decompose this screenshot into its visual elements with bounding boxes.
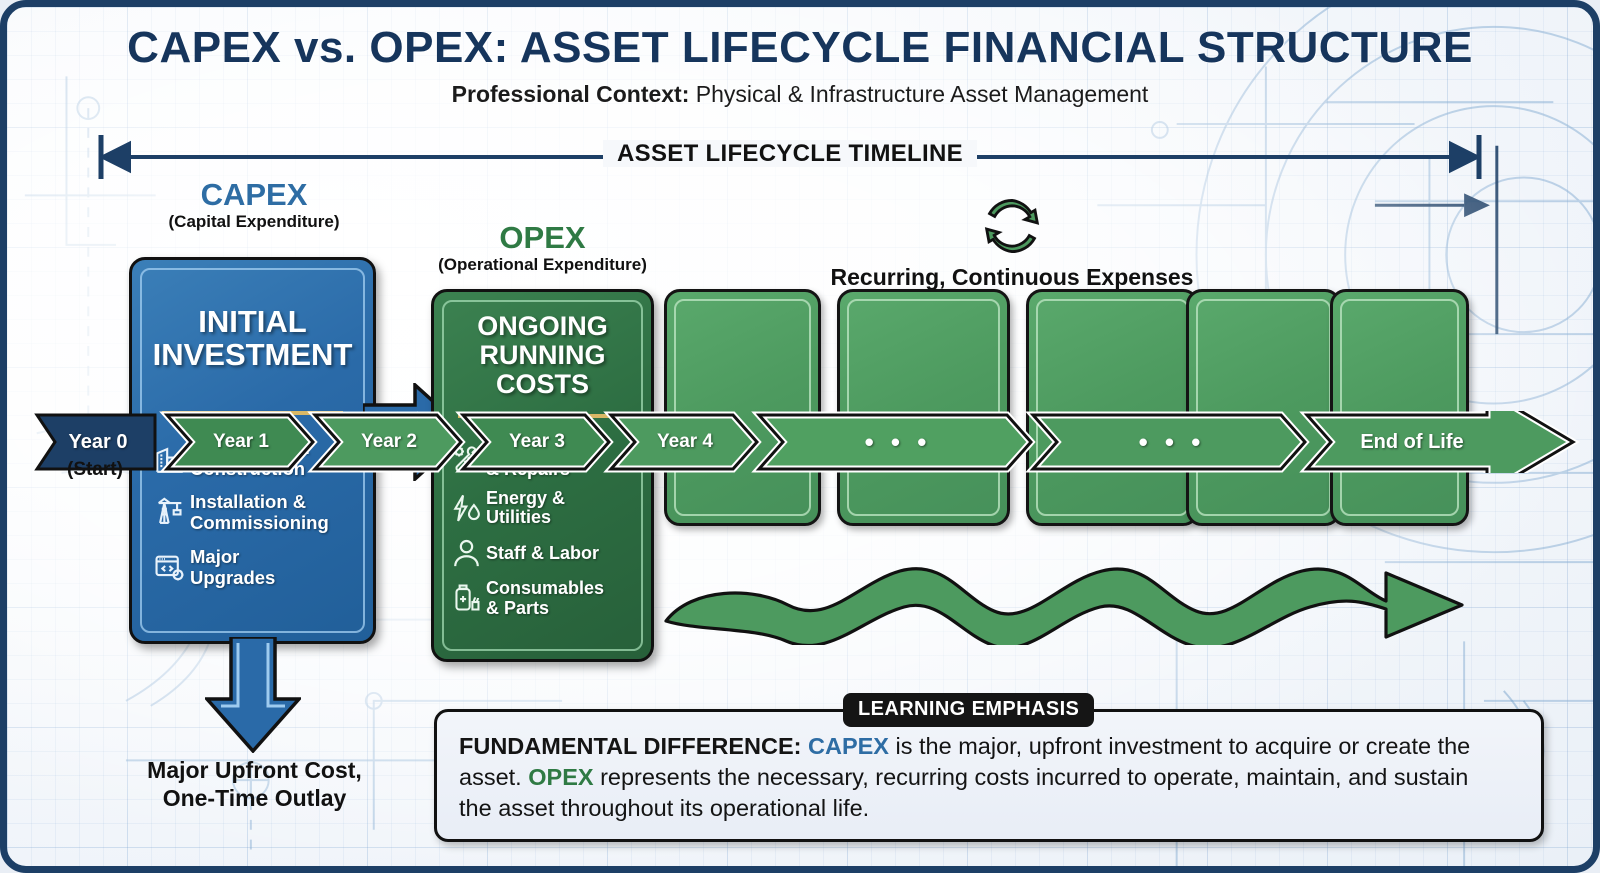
list-item: Installation &Commissioning (150, 492, 361, 533)
capex-acronym: CAPEX (129, 179, 379, 212)
list-item-label: Consumables& Parts (486, 579, 604, 619)
lifecycle-chevron-timeline (7, 411, 1600, 473)
opex-expansion: (Operational Expenditure) (419, 255, 666, 275)
list-item: Consumables& Parts (446, 579, 643, 619)
list-item-label: Energy &Utilities (486, 489, 565, 529)
list-item-label: Installation &Commissioning (190, 492, 329, 533)
continuous-flow-wavy-arrow-icon (662, 535, 1472, 645)
opex-inline-keyword: OPEX (528, 764, 593, 790)
opex-card[interactable]: ONGOING RUNNING COSTS Maintenance& Repai… (431, 289, 654, 662)
opex-card-title: ONGOING RUNNING COSTS (434, 312, 651, 399)
capex-footnote: Major Upfront Cost, One-Time Outlay (117, 757, 392, 812)
subtitle-value: Physical & Infrastructure Asset Manageme… (689, 81, 1148, 107)
person-icon (446, 537, 486, 570)
infographic-canvas: CAPEX vs. OPEX: ASSET LIFECYCLE FINANCIA… (0, 0, 1600, 873)
list-item[interactable] (1026, 289, 1199, 526)
subtitle-label: Professional Context: (452, 81, 690, 107)
supplies-icon (446, 582, 486, 615)
asset-lifecycle-timeline-header: ASSET LIFECYCLE TIMELINE (95, 135, 1485, 183)
opex-acronym: OPEX (419, 222, 666, 255)
learning-emphasis-text: FUNDAMENTAL DIFFERENCE: CAPEX is the maj… (459, 731, 1507, 824)
list-item[interactable] (664, 289, 821, 526)
learning-emphasis-mid2: represents the necessary, recurring cost… (459, 764, 1468, 821)
list-item: Energy &Utilities (446, 489, 643, 529)
list-item[interactable] (1330, 289, 1469, 526)
recurring-expenses-badge: Recurring, Continuous Expenses (822, 195, 1202, 291)
recycle-loop-icon (981, 244, 1043, 261)
year-0-sublabel: (Start) (43, 459, 147, 481)
list-item-label: MajorUpgrades (190, 547, 275, 588)
capex-expansion: (Capital Expenditure) (129, 212, 379, 232)
learning-emphasis-lead: FUNDAMENTAL DIFFERENCE: (459, 733, 801, 759)
capex-heading: CAPEX (Capital Expenditure) (129, 179, 379, 232)
timeline-header-label: ASSET LIFECYCLE TIMELINE (95, 140, 1485, 168)
list-item[interactable] (1186, 289, 1341, 526)
list-item: MajorUpgrades (150, 547, 361, 588)
page-subtitle: Professional Context: Physical & Infrast… (7, 81, 1593, 108)
capex-inline-keyword: CAPEX (808, 733, 889, 759)
capex-card-title: INITIAL INVESTMENT (132, 306, 373, 372)
list-item[interactable] (837, 289, 1010, 526)
capex-downward-arrow-icon (205, 637, 301, 753)
list-item: Staff & Labor (446, 537, 643, 570)
crane-icon (150, 496, 190, 530)
list-item-label: Staff & Labor (486, 544, 599, 564)
bolt-droplet-icon (446, 492, 486, 525)
code-window-gear-icon (150, 551, 190, 585)
recurring-cost-cards (664, 289, 1469, 526)
recurring-expenses-label: Recurring, Continuous Expenses (822, 264, 1202, 291)
opex-heading: OPEX (Operational Expenditure) (419, 222, 666, 275)
learning-emphasis-tag: LEARNING EMPHASIS (843, 693, 1094, 727)
page-title: CAPEX vs. OPEX: ASSET LIFECYCLE FINANCIA… (7, 23, 1593, 73)
